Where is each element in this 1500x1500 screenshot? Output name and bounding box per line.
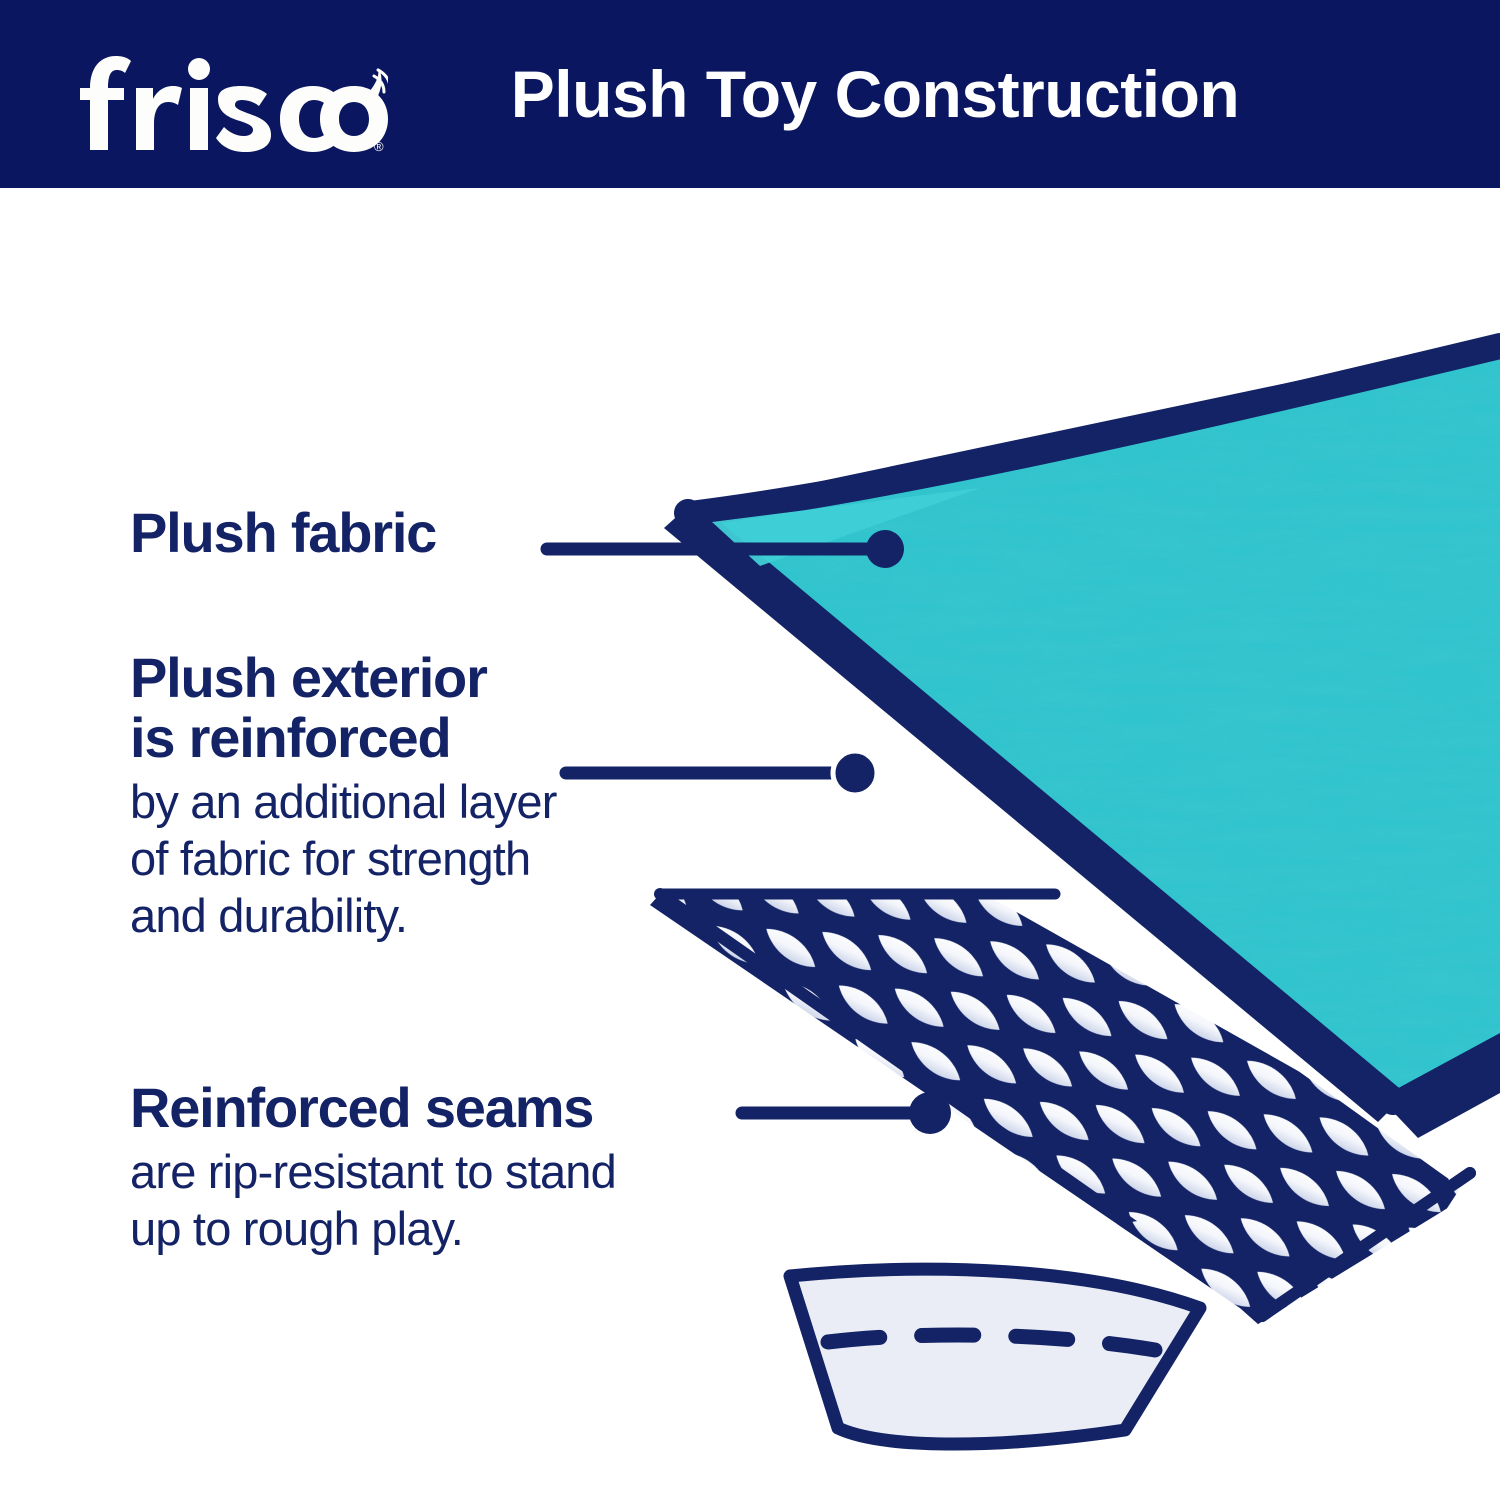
callout-heading-reinforced-seams: Reinforced seams xyxy=(130,1078,616,1138)
callout-body-plush-exterior: by an additional layer of fabric for str… xyxy=(130,774,557,945)
header-bar: ® Plush Toy Construction xyxy=(0,0,1500,188)
callout-body-reinforced-seams: are rip-resistant to stand up to rough p… xyxy=(130,1144,616,1258)
page-title: Plush Toy Construction xyxy=(0,0,1500,188)
callout-plush-exterior: Plush exterior is reinforced by an addit… xyxy=(130,648,557,944)
callout-heading-plush-exterior: Plush exterior is reinforced xyxy=(130,648,557,768)
callout-reinforced-seams: Reinforced seams are rip-resistant to st… xyxy=(130,1078,616,1258)
callout-heading-plush-fabric: Plush fabric xyxy=(130,503,436,563)
seam-flap-shape xyxy=(790,1269,1200,1444)
infographic-page: ® Plush Toy Construction xyxy=(0,0,1500,1500)
callout-plush-fabric: Plush fabric xyxy=(130,503,436,563)
seam-flap-layer xyxy=(790,1269,1200,1444)
